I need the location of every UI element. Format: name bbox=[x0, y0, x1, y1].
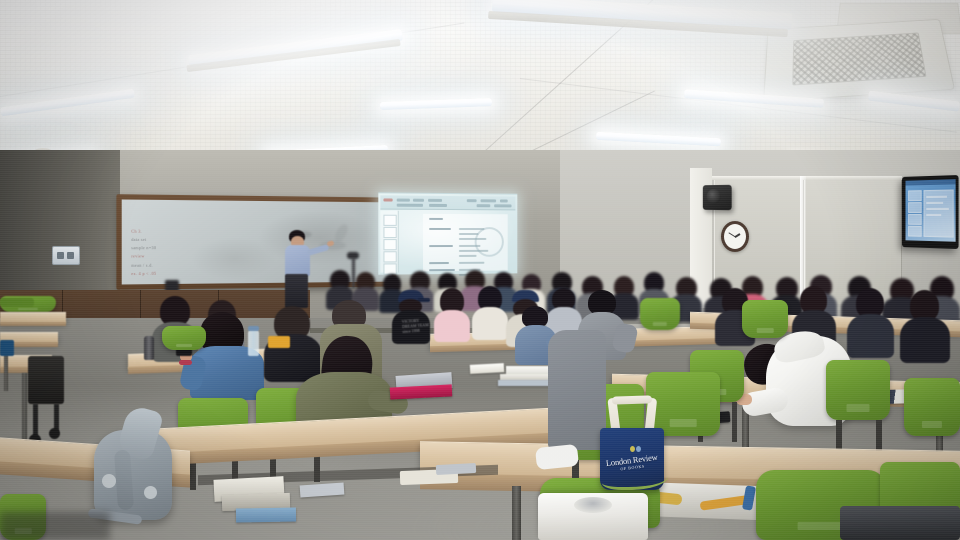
snack-item bbox=[268, 336, 290, 348]
tote-accent-swoosh bbox=[602, 467, 668, 490]
monitor-titlebar bbox=[905, 179, 955, 185]
caster-wheel-icon bbox=[49, 428, 60, 439]
wrist-band bbox=[179, 360, 192, 365]
black-chair bbox=[28, 356, 64, 404]
monitor-pane bbox=[908, 190, 922, 201]
air-conditioner-vent bbox=[836, 3, 960, 34]
paper-sheet bbox=[436, 463, 476, 475]
microphone-icon bbox=[347, 252, 359, 259]
slide-ribbon bbox=[380, 195, 515, 210]
lecturer-shirt bbox=[285, 245, 310, 276]
jacket-print-text: VICTORYDREAM TEAMsince 1998 bbox=[402, 317, 433, 333]
wall-clock-icon bbox=[721, 221, 749, 252]
av-wall-plate bbox=[52, 246, 80, 265]
fluorescent-tube-light bbox=[684, 89, 824, 108]
white-paper-roll bbox=[538, 493, 648, 540]
microphone-stand bbox=[352, 258, 355, 288]
textbook bbox=[498, 380, 552, 386]
wall-mounted-monitor bbox=[902, 175, 959, 249]
desk-leg bbox=[22, 373, 27, 443]
light-fixture-housing bbox=[186, 39, 400, 72]
foreground-chair-shadow bbox=[840, 506, 960, 540]
classroom-photo: Ch 3. data set sample n=30 review mean /… bbox=[0, 0, 960, 540]
backpack-buckle bbox=[144, 486, 157, 499]
tote-logo-icon bbox=[630, 446, 641, 453]
lecturer-trousers bbox=[285, 274, 308, 308]
grey-backpack bbox=[94, 408, 174, 520]
light-fixture-housing bbox=[488, 11, 788, 37]
ribbon-file-tab bbox=[383, 198, 392, 201]
tote-body: London Review OF BOOKS bbox=[600, 428, 664, 490]
floor-shadow bbox=[0, 512, 110, 540]
monitor-screen bbox=[905, 179, 955, 242]
notebook bbox=[470, 363, 504, 374]
fluorescent-tube-light bbox=[188, 29, 403, 67]
slide-side-panel bbox=[380, 211, 398, 273]
tote-handle-top bbox=[612, 395, 652, 404]
fluorescent-tube-light bbox=[0, 89, 135, 117]
london-review-of-books-tote-bag: London Review OF BOOKS bbox=[596, 398, 668, 490]
blue-folder bbox=[236, 507, 296, 522]
bottle-cap bbox=[248, 326, 259, 331]
desk-item-box bbox=[0, 340, 14, 356]
thermos-bottle bbox=[144, 336, 154, 360]
chair-leg bbox=[33, 404, 38, 438]
slide-watermark bbox=[475, 227, 504, 257]
monitor-pane bbox=[908, 214, 922, 225]
air-conditioner-vent bbox=[763, 19, 955, 102]
fluorescent-tube-light bbox=[596, 132, 721, 147]
water-bottle bbox=[248, 330, 259, 356]
fluorescent-tube-light bbox=[492, 0, 792, 30]
monitor-pane bbox=[908, 226, 922, 237]
ceiling-seam bbox=[520, 78, 957, 133]
fluorescent-tube-light bbox=[868, 90, 960, 111]
ceiling-seam bbox=[0, 22, 464, 97]
wall-speaker-icon bbox=[703, 185, 732, 210]
slide-document-body bbox=[423, 214, 508, 271]
monitor-pane bbox=[908, 202, 922, 213]
sneaker bbox=[535, 444, 579, 470]
desk-leg bbox=[512, 486, 521, 540]
fluorescent-tube-light bbox=[380, 98, 492, 110]
backpack-buckle bbox=[102, 474, 116, 488]
chair-seat bbox=[0, 298, 34, 307]
vent-grill bbox=[792, 32, 926, 85]
projection-screen bbox=[378, 192, 517, 274]
